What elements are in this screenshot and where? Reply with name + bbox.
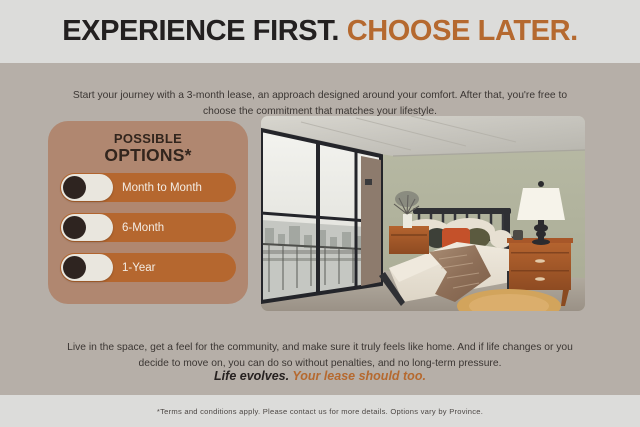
card-heading: POSSIBLE OPTIONS* <box>60 132 236 164</box>
possible-options-card: POSSIBLE OPTIONS* Month to Month 6-Month… <box>48 121 248 304</box>
option-label: 6-Month <box>122 222 164 234</box>
option-row-6-month[interactable]: 6-Month <box>60 213 236 242</box>
toggle-knob-icon <box>63 256 86 279</box>
header-band: EXPERIENCE FIRST. CHOOSE LATER. <box>0 0 640 63</box>
page-title: EXPERIENCE FIRST. CHOOSE LATER. <box>62 17 578 46</box>
toggle-switch-icon[interactable] <box>61 174 113 201</box>
intro-paragraph: Start your journey with a 3-month lease,… <box>60 88 580 119</box>
bedroom-illustration <box>261 116 585 311</box>
option-row-1-year[interactable]: 1-Year <box>60 253 236 282</box>
tagline-accent: Your lease should too. <box>292 369 426 383</box>
toggle-switch-icon[interactable] <box>61 214 113 241</box>
disclaimer-text: *Terms and conditions apply. Please cont… <box>157 407 483 416</box>
option-label: Month to Month <box>122 182 202 194</box>
toggle-switch-icon[interactable] <box>61 254 113 281</box>
promo-poster: EXPERIENCE FIRST. CHOOSE LATER. Start yo… <box>0 0 640 427</box>
tagline-primary: Life evolves. <box>214 369 289 383</box>
body-paragraph: Live in the space, get a feel for the co… <box>55 340 585 372</box>
toggle-knob-icon <box>63 216 86 239</box>
tagline: Life evolves. Your lease should too. <box>55 369 585 383</box>
bedroom-photo <box>261 116 585 311</box>
card-heading-line2: OPTIONS* <box>60 146 236 165</box>
toggle-knob-icon <box>63 176 86 199</box>
option-label: 1-Year <box>122 262 155 274</box>
footer-band: *Terms and conditions apply. Please cont… <box>0 395 640 427</box>
headline-primary: EXPERIENCE FIRST. <box>62 15 339 47</box>
option-row-month-to-month[interactable]: Month to Month <box>60 173 236 202</box>
headline-accent: CHOOSE LATER. <box>347 15 578 47</box>
card-heading-line1: POSSIBLE <box>60 132 236 146</box>
